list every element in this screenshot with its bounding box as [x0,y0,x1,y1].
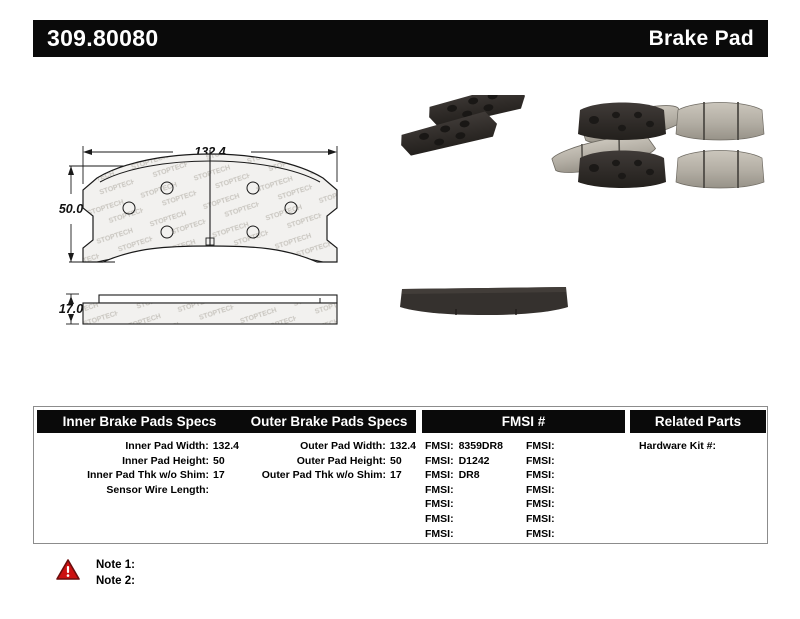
spec-row: Inner Pad Height:50 [34,454,239,469]
warning-triangle-icon [56,559,80,580]
spec-value: 132.4 [390,439,416,454]
fmsi-row: FMSI: [523,497,624,512]
height-arrow-top [68,166,74,175]
part-number: 309.80080 [47,25,158,52]
spec-row: Outer Pad Thk w/o Shim:17 [239,468,416,483]
product-photos [398,95,770,195]
related-part-row: Hardware Kit #: [630,439,766,454]
column-header-related-parts: Related Parts [630,410,766,433]
height-arrow-bottom [68,253,74,262]
fmsi-label: FMSI: [526,439,555,454]
related-parts-column: Hardware Kit #: [630,439,766,454]
outer-specs-column: Outer Pad Width:132.4Outer Pad Height:50… [239,439,416,483]
fmsi-label: FMSI: [425,454,454,469]
width-arrow-left [83,149,92,155]
column-header-outer-specs: Outer Brake Pads Specs [242,410,416,433]
spec-value: 50 [390,454,416,469]
drawing-svg: STOPTECH STOPTECH 132.4 [55,120,395,335]
spec-label: Inner Pad Height: [122,454,209,469]
fmsi-label: FMSI: [526,454,555,469]
column-header-inner-specs: Inner Brake Pads Specs [37,410,242,433]
pad-side-view [83,295,337,324]
fmsi-row: FMSI:D1242 [422,454,523,469]
fmsi-label: FMSI: [425,497,454,512]
fmsi-label: FMSI: [526,497,555,512]
spec-value: 132.4 [213,439,239,454]
fmsi-row: FMSI: [422,483,523,498]
spec-label: Sensor Wire Length: [106,483,209,498]
spec-value: 17 [390,468,416,483]
fmsi-label: FMSI: [526,527,555,542]
fmsi-label: FMSI: [526,468,555,483]
fmsi-row: FMSI: [523,468,624,483]
note-line-2: Note 2: [96,573,135,589]
note-line-1: Note 1: [96,557,135,573]
edge-view-svg [398,281,570,323]
fmsi-value: 8359DR8 [459,439,503,454]
inner-specs-column: Inner Pad Width:132.4Inner Pad Height:50… [34,439,239,497]
fmsi-row: FMSI: [523,512,624,527]
product-photo-svg [398,95,770,195]
spec-value: 50 [213,454,239,469]
fmsi-row: FMSI:8359DR8 [422,439,523,454]
fmsi-label: FMSI: [526,483,555,498]
table-header-row: Inner Brake Pads Specs Outer Brake Pads … [34,407,769,433]
spec-label: Outer Pad Thk w/o Shim: [262,468,386,483]
technical-drawing: STOPTECH STOPTECH 132.4 [55,120,395,335]
product-type: Brake Pad [649,27,754,51]
spec-row: Outer Pad Width:132.4 [239,439,416,454]
fmsi-subcolumn-right: FMSI:FMSI:FMSI:FMSI:FMSI:FMSI:FMSI: [523,439,624,541]
column-header-fmsi: FMSI # [422,410,625,433]
fmsi-row: FMSI: [523,454,624,469]
fmsi-label: FMSI: [425,439,454,454]
spec-row: Sensor Wire Length: [34,483,239,498]
fmsi-row: FMSI: [523,439,624,454]
product-photo-edge-view [398,281,570,323]
fmsi-row: FMSI:DR8 [422,468,523,483]
specifications-table: Inner Brake Pads Specs Outer Brake Pads … [33,406,768,544]
fmsi-row: FMSI: [422,527,523,542]
spec-label: Inner Pad Width: [125,439,208,454]
spec-row: Inner Pad Width:132.4 [34,439,239,454]
notes-section: Note 1:Note 2: [56,557,356,597]
fmsi-label: FMSI: [425,468,454,483]
spec-sheet-page: 309.80080 Brake Pad STOPTECH STOPTECH [0,0,800,619]
pad-front-view [83,150,337,262]
spec-label: Inner Pad Thk w/o Shim: [87,468,209,483]
fmsi-row: FMSI: [422,512,523,527]
spec-label: Outer Pad Height: [297,454,386,469]
spec-row: Outer Pad Height:50 [239,454,416,469]
fmsi-row: FMSI: [523,483,624,498]
fmsi-row: FMSI: [422,497,523,512]
spec-label: Outer Pad Width: [300,439,386,454]
fmsi-label: FMSI: [425,512,454,527]
fmsi-subcolumn-left: FMSI:8359DR8FMSI:D1242FMSI:DR8FMSI:FMSI:… [422,439,523,541]
note-lines: Note 1:Note 2: [96,557,135,589]
spec-row: Inner Pad Thk w/o Shim:17 [34,468,239,483]
height-dimension-label: 50.0 [59,202,83,216]
fmsi-value: D1242 [459,454,490,469]
header-bar: 309.80080 Brake Pad [33,20,768,57]
fmsi-label: FMSI: [425,527,454,542]
fmsi-label: FMSI: [425,483,454,498]
fmsi-row: FMSI: [523,527,624,542]
fmsi-label: FMSI: [526,512,555,527]
width-arrow-right [328,149,337,155]
fmsi-value: DR8 [459,468,480,483]
spec-value: 17 [213,468,239,483]
fmsi-column: FMSI:8359DR8FMSI:D1242FMSI:DR8FMSI:FMSI:… [422,439,625,541]
thickness-dimension-label: 17.0 [59,302,83,316]
